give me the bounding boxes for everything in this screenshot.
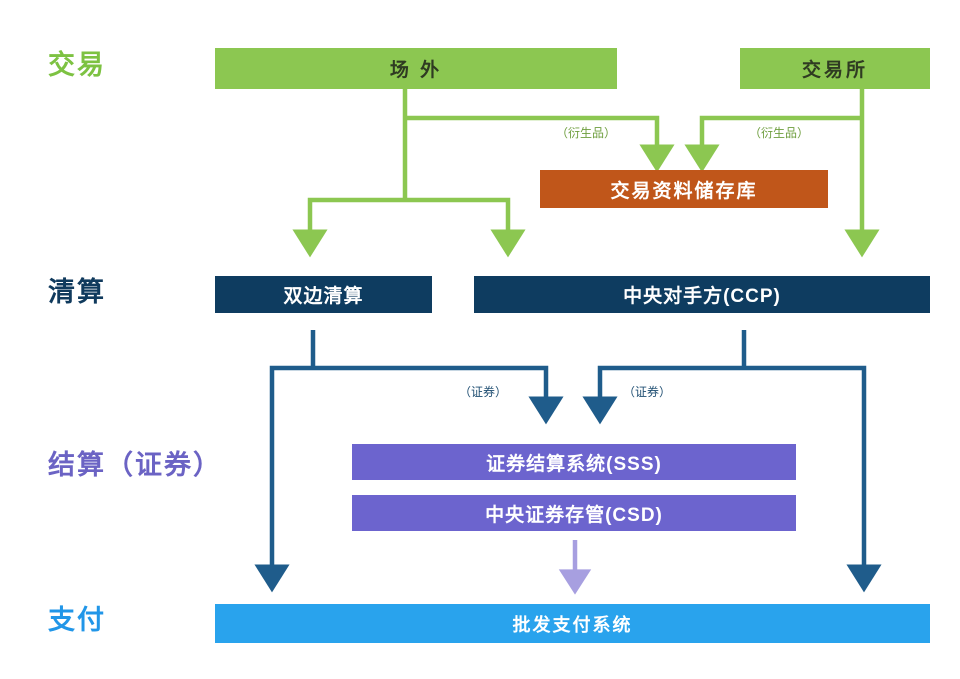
node-wholesale-payment-system[interactable]: 批发支付系统 [215, 604, 930, 643]
node-exchange[interactable]: 交易所 [740, 48, 930, 89]
wire-otc-to-ccp [405, 200, 508, 243]
edge-label-derivatives-exchange: （衍生品） [749, 127, 809, 139]
edge-label-derivatives-otc: （衍生品） [556, 127, 616, 139]
node-securities-settlement-system[interactable]: 证券结算系统(SSS) [352, 444, 796, 480]
node-central-securities-depository[interactable]: 中央证券存管(CSD) [352, 495, 796, 531]
row-label-clearing: 清算 [48, 279, 106, 306]
node-trade-repository[interactable]: 交易资料储存库 [540, 170, 828, 208]
wire-otc-to-repository [405, 118, 657, 158]
row-label-payment: 支付 [48, 607, 106, 634]
diagram-canvas: 交易 清算 结算（证券） 支付 场 外 交易所 交易资料储存库 双边清算 中央对… [0, 0, 960, 679]
edge-label-securities-ccp: （证券） [623, 386, 671, 398]
row-label-trading: 交易 [48, 52, 106, 79]
wire-ccp-to-sss [600, 368, 744, 410]
node-central-counterparty[interactable]: 中央对手方(CCP) [474, 276, 930, 313]
node-bilateral-clearing[interactable]: 双边清算 [215, 276, 432, 313]
connector-layer [0, 0, 960, 679]
edge-label-securities-bilateral: （证券） [459, 386, 507, 398]
wire-otc-to-bilateral [310, 200, 405, 243]
wire-bilateral-to-sss [313, 368, 546, 410]
wire-bilateral-to-payment [272, 368, 313, 578]
row-label-settlement: 结算（证券） [48, 452, 222, 479]
node-otc[interactable]: 场 外 [215, 48, 617, 89]
